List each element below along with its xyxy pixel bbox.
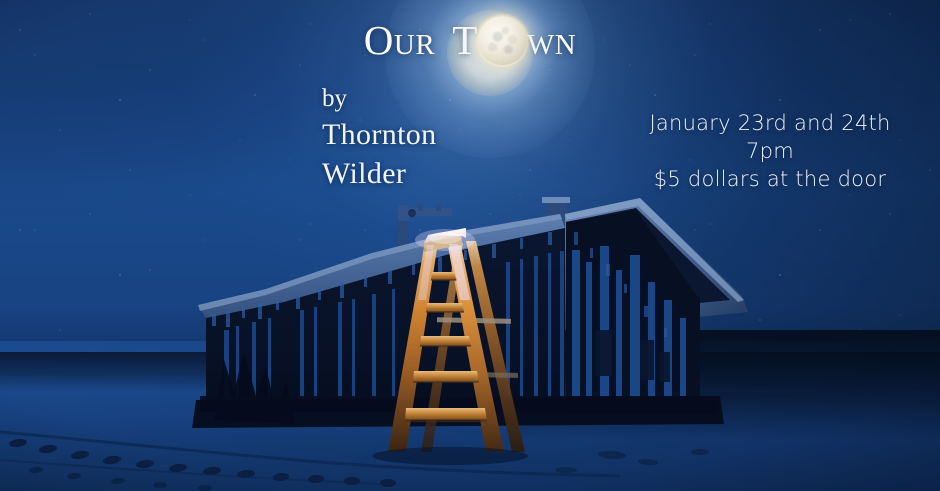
byline-by: by (322, 86, 437, 111)
author-last-name: Wilder (322, 159, 437, 189)
event-dates: January 23rd and 24th (620, 110, 920, 138)
byline: by Thornton Wilder (322, 86, 437, 189)
title-o-cap: O (364, 17, 394, 63)
moon-icon (478, 16, 527, 65)
ground-right-shadow (520, 330, 940, 440)
event-price: $5 dollars at the door (620, 166, 920, 194)
event-time: 7pm (620, 138, 920, 166)
event-details: January 23rd and 24th 7pm $5 dollars at … (620, 110, 920, 194)
our-town-poster: OURTWN by Thornton Wilder January 23rd a… (0, 0, 940, 491)
author-first-name: Thornton (322, 120, 437, 150)
title-t-cap: T (452, 17, 478, 63)
page-title: OURTWN (0, 16, 940, 65)
title-wn-smallcaps: WN (527, 29, 576, 61)
moon-as-letter-o (478, 16, 527, 65)
title-ur-smallcaps: UR (394, 29, 435, 61)
